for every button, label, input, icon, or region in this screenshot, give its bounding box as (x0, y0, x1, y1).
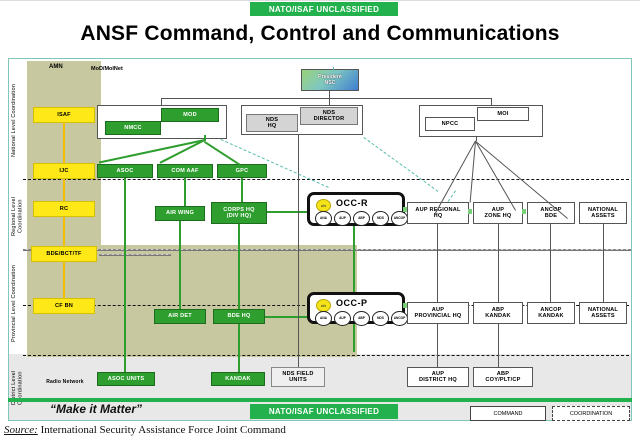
president-line2: NSC (325, 80, 336, 86)
node-mod[interactable]: MOD (161, 108, 219, 122)
node-npcc[interactable]: NPCC (425, 117, 475, 131)
node-national-assets-regional[interactable]: NATIONAL ASSETS (579, 202, 627, 224)
node-aup-zone-hq[interactable]: AUP ZONE HQ (473, 202, 523, 224)
node-aup-provincial-hq[interactable]: AUP PROVINCIAL HQ (407, 302, 469, 324)
abpkandak-drop-line (498, 324, 499, 372)
node-nds-director[interactable]: NDS DIRECTOR (300, 107, 358, 125)
node-bde-hq[interactable]: BDE HQ (213, 309, 265, 324)
corps-drop-line (238, 224, 240, 309)
legend-command: COMMAND (470, 406, 546, 421)
radio-network-label: Radio Network (29, 377, 101, 389)
coordination-line-nds-moi (363, 137, 438, 192)
occ-r-agency-circles: ANA AUP ABP NDS ANCOP (315, 211, 408, 226)
occ-p-circle-ancop[interactable]: ANCOP (391, 311, 408, 326)
aupprov-drop-line (437, 324, 438, 372)
diagram-frame: National Level Coordination Regional Lev… (8, 58, 632, 421)
node-national-assets-provincial[interactable]: NATIONAL ASSETS (579, 302, 627, 324)
comaaf-drop-line (184, 178, 186, 206)
page-title: ANSF Command, Control and Communications (0, 22, 640, 46)
occr-to-occp-line (353, 226, 355, 352)
footer-motto: “Make it Matter” (50, 402, 142, 416)
node-abp-kandak[interactable]: ABP KANDAK (473, 302, 523, 324)
amn-node-bde-bct-tf[interactable]: BDE/BCT/TF (31, 246, 97, 262)
node-com-aaf[interactable]: COM AAF (157, 164, 213, 178)
top-divider (0, 0, 640, 1)
source-caption: Source: International Security Assistanc… (4, 424, 286, 436)
separator-national-regional (23, 179, 629, 180)
president-bus-line (161, 98, 491, 99)
legend-coordination: COORDINATION (552, 406, 630, 421)
level-label-provincial: Provincial Level Coordination (11, 253, 25, 353)
occ-r-circle-ana[interactable]: ANA (315, 211, 332, 226)
node-ancop-kandak[interactable]: ANCOP KANDAK (527, 302, 575, 324)
column-header-amn: AMN (49, 64, 63, 70)
source-text: International Security Assistance Force … (41, 424, 286, 436)
aup-zone-connector (468, 209, 472, 214)
separator-regional-provincial (23, 249, 631, 251)
level-label-district: District Level Coordination (11, 359, 25, 417)
amn-coordination-stub (99, 254, 171, 256)
level-label-national: National Level Coordination (11, 65, 25, 177)
occ-p-circle-aup[interactable]: AUP (334, 311, 351, 326)
president-nsc-box[interactable]: President NSC (301, 69, 359, 91)
column-header-modnet: MoD/MoINet (91, 66, 123, 72)
aupzone-drop-line (498, 224, 499, 302)
node-nmcc[interactable]: NMCC (105, 121, 161, 135)
occ-p-title: OCC-P (336, 298, 368, 308)
asoc-drop-line (124, 178, 126, 206)
occ-r-circle-nds[interactable]: NDS (372, 211, 389, 226)
kandak-drop-line (238, 324, 240, 372)
asoc-units-drop-line (124, 322, 126, 372)
ancop-bde-connector (522, 209, 526, 214)
separator-provincial-district (23, 355, 629, 356)
airwing-drop-line (179, 221, 181, 309)
occ-r-circle-abp[interactable]: ABP (353, 211, 370, 226)
occ-p-box[interactable]: ch OCC-P ANA AUP ABP NDS ANCOP (307, 292, 405, 324)
node-moi[interactable]: MOI (477, 107, 529, 121)
occ-r-box[interactable]: ch OCC-R ANA AUP ABP NDS ANCOP (307, 192, 405, 226)
source-label: Source: (4, 424, 38, 436)
amn-node-rc[interactable]: RC (33, 201, 95, 217)
asoc-long-drop-line (124, 206, 126, 322)
occ-p-circle-nds[interactable]: NDS (372, 311, 389, 326)
aupreg-drop-line (437, 224, 438, 302)
corps-to-occr-line (267, 211, 309, 213)
node-nds-field-units[interactable]: NDS FIELD UNITS (271, 367, 325, 387)
node-corps-hq[interactable]: CORPS HQ (DIV HQ) (211, 202, 267, 224)
occ-r-circle-aup[interactable]: AUP (334, 211, 351, 226)
slide-canvas: NATO/ISAF UNCLASSIFIED ANSF Command, Con… (0, 0, 640, 441)
occ-r-title: OCC-R (336, 198, 368, 208)
occ-r-circle-ancop[interactable]: ANCOP (391, 211, 408, 226)
amn-node-isaf[interactable]: ISAF (33, 107, 95, 123)
nds-spine-line (298, 135, 299, 367)
node-aup-district-hq[interactable]: AUP DISTRICT HQ (407, 367, 469, 387)
level-label-regional: Regional Level Coordination (11, 183, 25, 249)
coordination-line-president (333, 67, 334, 71)
node-gpc[interactable]: GPC (217, 164, 267, 178)
mod-to-asoc-line (99, 140, 205, 164)
natassets-drop-line (603, 224, 604, 302)
node-kandak[interactable]: KANDAK (211, 372, 265, 386)
bdehq-to-occp-line (265, 316, 309, 318)
node-nds-hq[interactable]: NDS HQ (246, 114, 298, 132)
occ-p-circle-ana[interactable]: ANA (315, 311, 332, 326)
occ-p-circle-abp[interactable]: ABP (353, 311, 370, 326)
amn-node-ijc[interactable]: IJC (33, 163, 95, 179)
node-air-det[interactable]: AIR DET (154, 309, 206, 324)
node-asoc[interactable]: ASOC (97, 164, 153, 178)
node-abp-coy-plt-cp[interactable]: ABP COY/PLT/CP (473, 367, 533, 387)
moi-to-ancopbde-line (475, 141, 516, 211)
classification-banner-bottom: NATO/ISAF UNCLASSIFIED (250, 404, 398, 419)
classification-banner-top: NATO/ISAF UNCLASSIFIED (250, 2, 398, 16)
amn-node-cf-bn[interactable]: CF BN (33, 298, 95, 314)
ancopbde-drop-line (550, 224, 551, 302)
node-air-wing[interactable]: AIR WING (155, 206, 205, 221)
occ-p-agency-circles: ANA AUP ABP NDS ANCOP (315, 311, 408, 326)
node-asoc-units[interactable]: ASOC UNITS (97, 372, 155, 386)
